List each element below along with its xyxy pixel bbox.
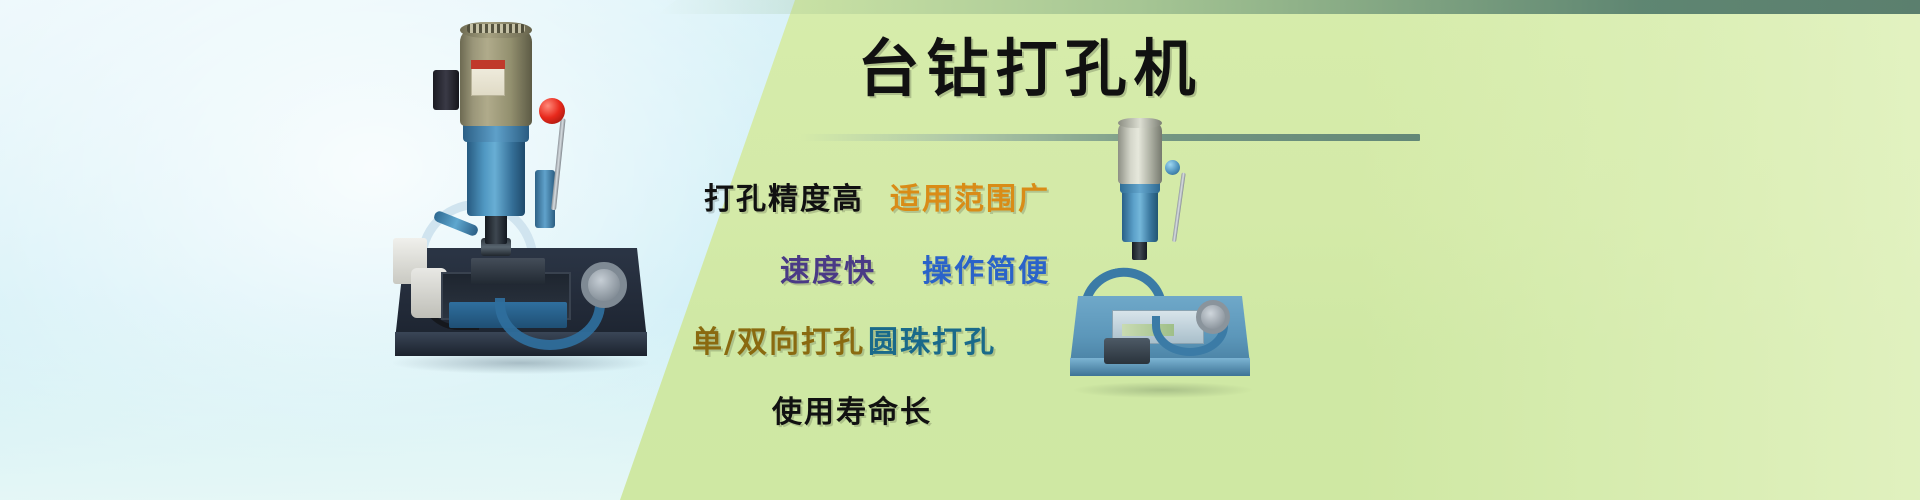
- motor-nameplate-band: [471, 60, 505, 69]
- spindle-housing: [467, 138, 525, 216]
- motor-vents: [467, 24, 525, 33]
- right-spindle-housing: [1122, 190, 1158, 242]
- feature-biaxial: 单/双向打孔: [692, 328, 865, 358]
- right-lever-knob: [1165, 160, 1180, 175]
- lever-knob: [539, 98, 565, 124]
- left-product-image: [375, 10, 665, 380]
- feature-speed: 速度快: [780, 257, 876, 287]
- right-motor-cap: [1118, 118, 1162, 128]
- feature-accuracy: 打孔精度高: [704, 185, 864, 215]
- right-handwheel: [1196, 300, 1230, 334]
- right-product-shadow: [1074, 382, 1252, 398]
- junction-box: [433, 70, 459, 110]
- right-product-image: [1060, 110, 1260, 400]
- feature-lifespan: 使用寿命长: [772, 398, 932, 428]
- feature-bead: 圆珠打孔: [868, 328, 996, 358]
- feature-range: 适用范围广: [890, 185, 1050, 215]
- feed-lever: [551, 118, 566, 210]
- right-base-front: [1070, 358, 1250, 376]
- handwheel: [581, 262, 627, 308]
- right-drive-block: [1104, 338, 1150, 364]
- feature-simple: 操作简便: [922, 257, 1050, 287]
- right-feed-lever: [1172, 172, 1186, 242]
- vise-clamp: [471, 258, 545, 284]
- right-motor-body: [1118, 122, 1162, 184]
- product-banner: 台钻打孔机 打孔精度高 适用范围广 速度快 操作简便 单/双向打孔 圆珠打孔 使…: [0, 0, 1920, 500]
- banner-title: 台钻打孔机: [760, 38, 1300, 100]
